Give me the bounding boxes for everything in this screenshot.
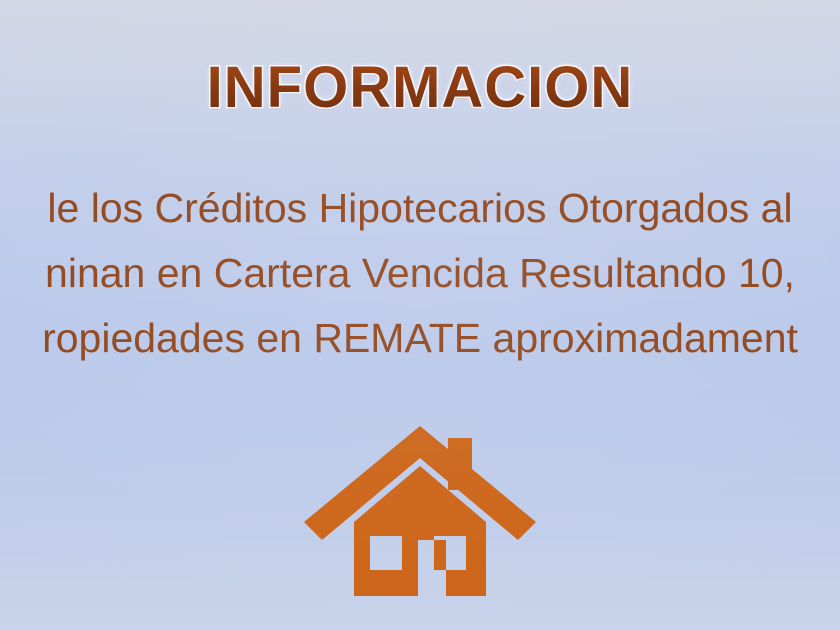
page-title-text: INFORMACION bbox=[207, 58, 634, 119]
house-icon bbox=[300, 418, 540, 610]
body-text-line-2: ninan en Cartera Vencida Resultando 10, bbox=[0, 241, 840, 306]
body-text-line-3: ropiedades en REMATE aproximadament bbox=[0, 306, 840, 371]
body-text-block: le los Créditos Hipotecarios Otorgados a… bbox=[0, 176, 840, 371]
page-title: INFORMACION bbox=[0, 58, 840, 119]
body-text-line-1: le los Créditos Hipotecarios Otorgados a… bbox=[0, 176, 840, 241]
slide-canvas: INFORMACION INFORMACION le los Créditos … bbox=[0, 0, 840, 630]
